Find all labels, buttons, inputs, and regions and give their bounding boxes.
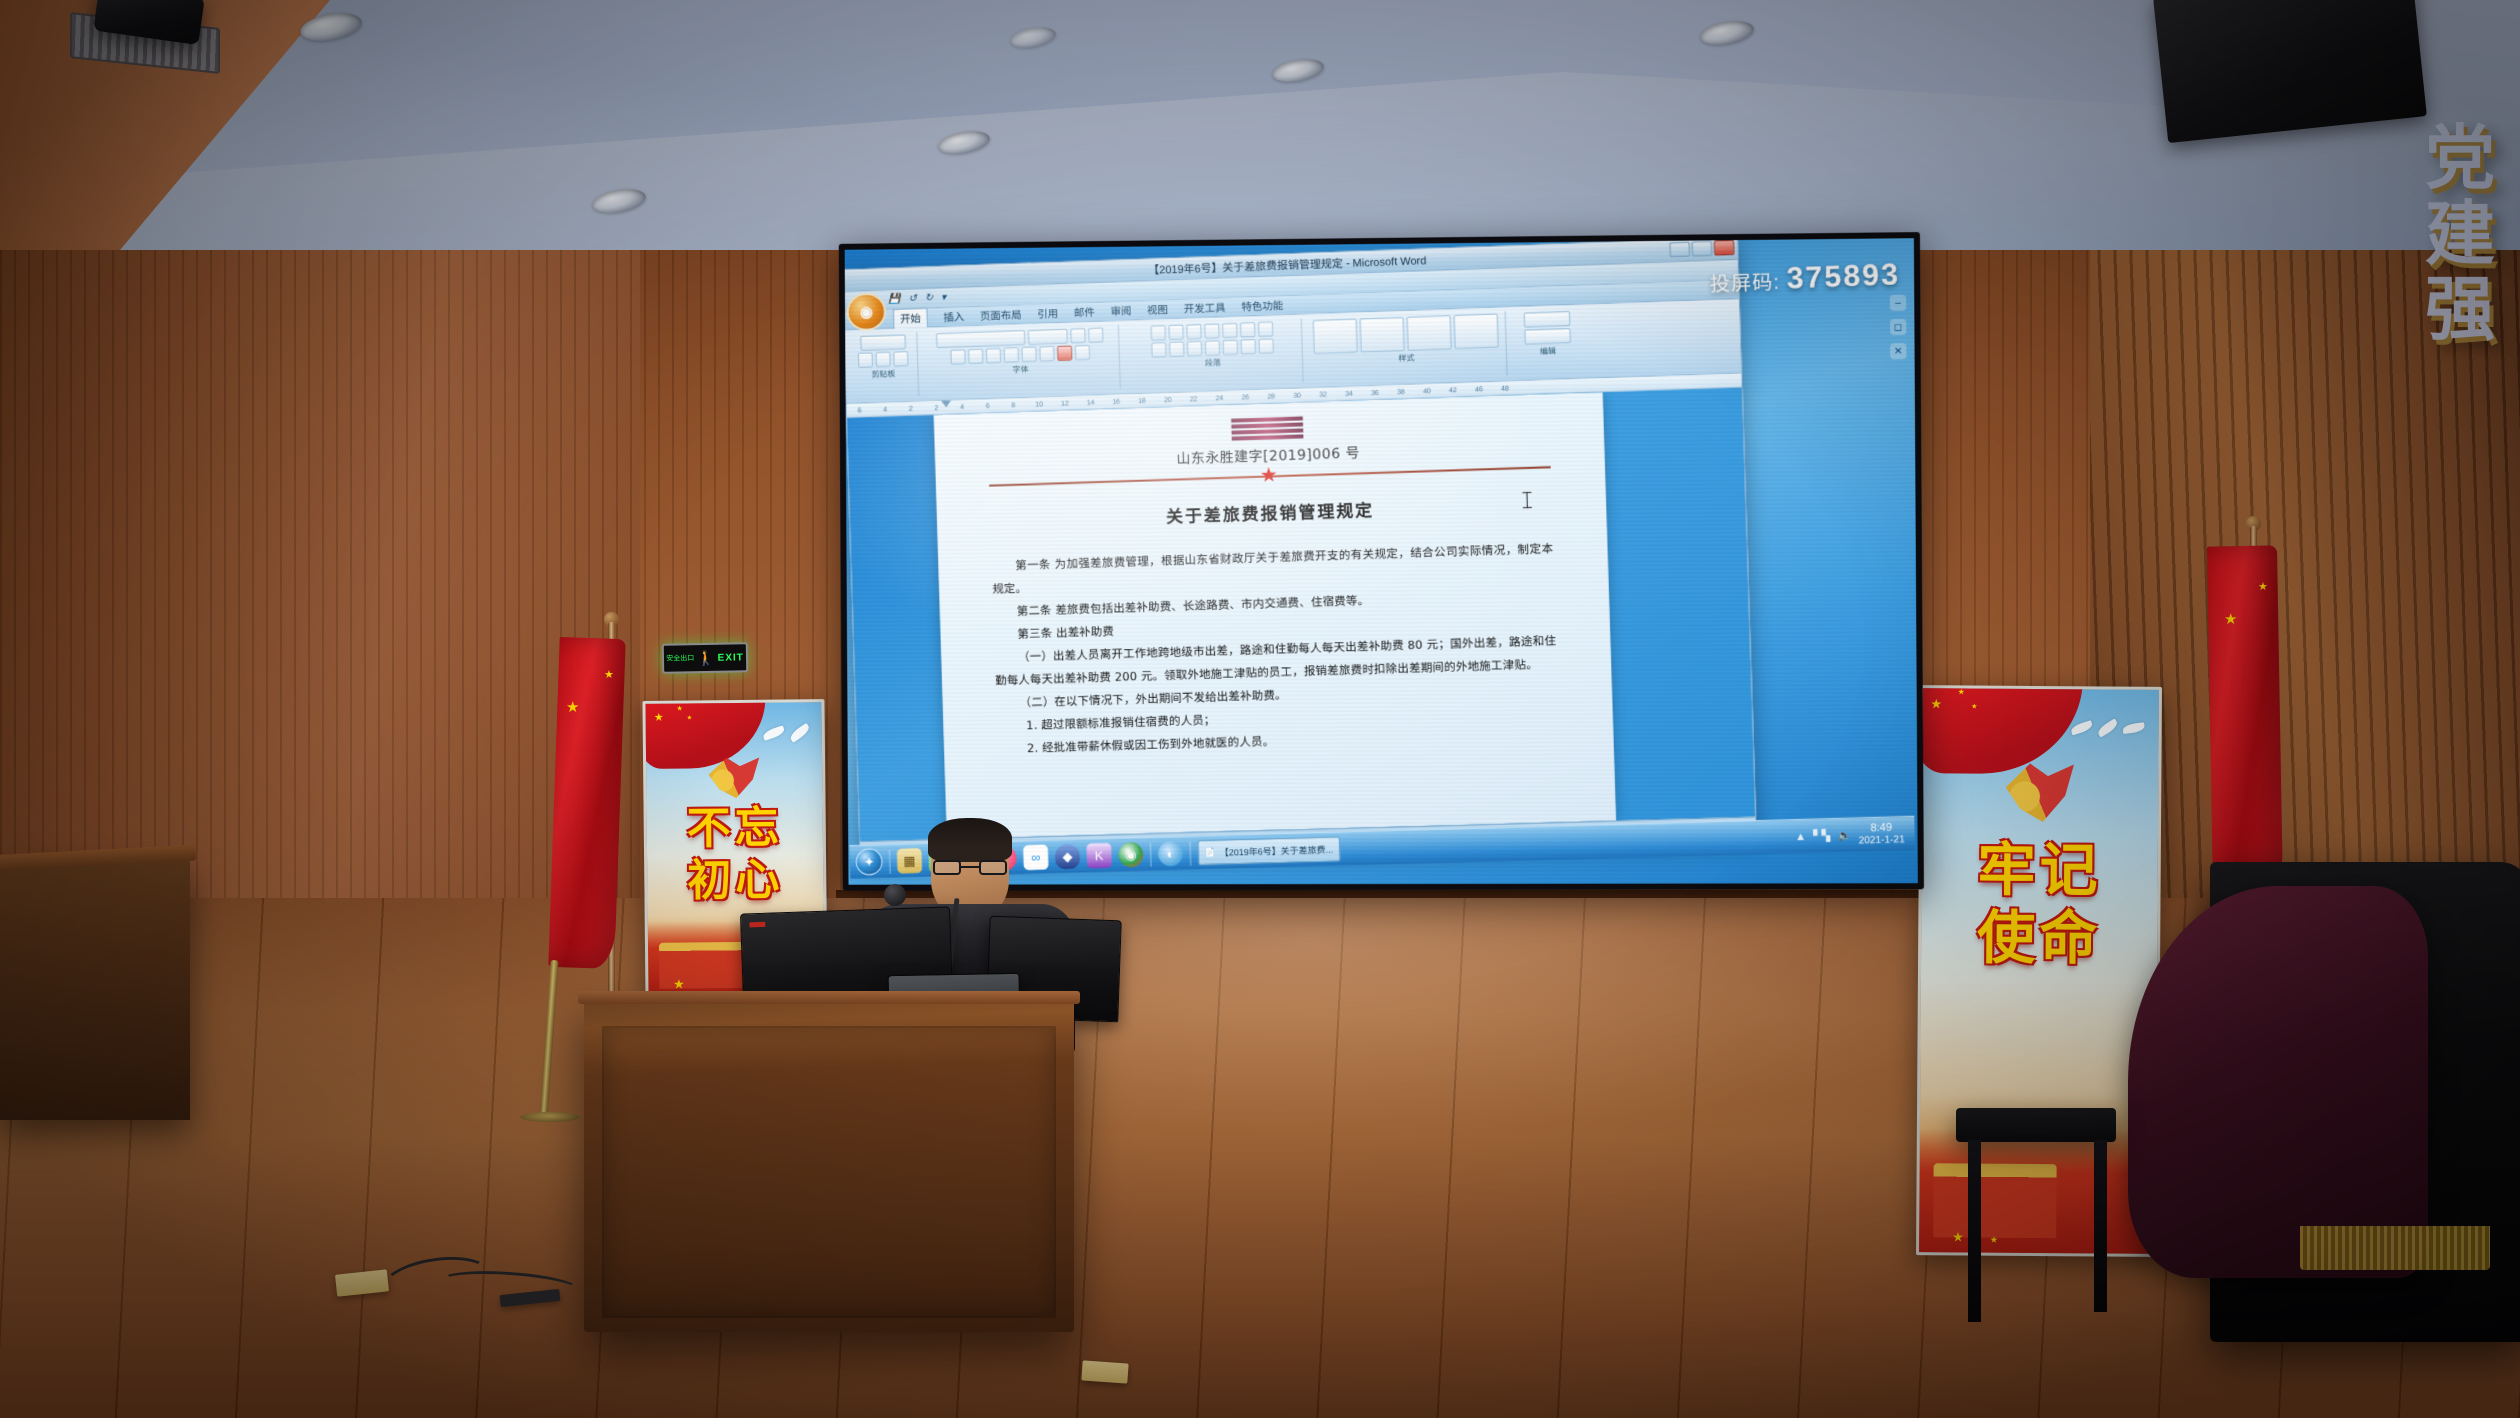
ruler-tick: 24 xyxy=(1206,394,1232,402)
style-heading1[interactable] xyxy=(1407,315,1452,351)
style-no-spacing[interactable] xyxy=(1360,317,1405,353)
banner-left-line2: 初心 xyxy=(647,854,824,908)
dove-icon xyxy=(759,729,811,739)
tab-special[interactable]: 特色功能 xyxy=(1241,298,1283,314)
tiananmen-graphic: ★ ★ xyxy=(1919,1128,2156,1254)
ribbon-group-label: 字体 xyxy=(1013,364,1029,375)
ruler-tick: 22 xyxy=(1181,395,1207,403)
bullets-button[interactable] xyxy=(1151,325,1166,340)
decrease-indent-button[interactable] xyxy=(1204,323,1219,338)
ribbon-group-label: 段落 xyxy=(1205,357,1221,369)
ruler-tick: 10 xyxy=(1026,400,1052,408)
underline-button[interactable] xyxy=(986,348,1001,363)
document-title: 关于差旅费报销管理规定 xyxy=(990,490,1552,533)
font-size-select[interactable] xyxy=(1028,329,1068,345)
line-spacing-button[interactable] xyxy=(1223,340,1238,355)
podium xyxy=(584,1000,1074,1332)
ruler-tick: 20 xyxy=(1155,396,1181,404)
ruler-tick: 2 xyxy=(898,405,924,413)
banner-left-line1: 不忘 xyxy=(647,802,824,856)
tab-review[interactable]: 审阅 xyxy=(1110,303,1131,319)
redo-icon[interactable]: ↻ xyxy=(925,293,934,304)
piano-bench xyxy=(1956,1108,2116,1142)
sort-button[interactable] xyxy=(1240,322,1255,337)
bold-button[interactable] xyxy=(950,349,965,364)
projection-screen[interactable]: 投屏码: 375893 – ◻ ✕ 【2019年6号】关于差旅费报销管理规定 -… xyxy=(845,238,1918,885)
taskbar-window-button[interactable]: 📄 【2019年6号】关于差旅费... xyxy=(1197,837,1340,866)
qq-browser-icon[interactable]: ◐ xyxy=(1158,841,1184,867)
text-caret-icon xyxy=(1526,492,1528,508)
align-right-button[interactable] xyxy=(1187,341,1202,356)
style-heading2[interactable] xyxy=(1454,314,1499,350)
floor-paper-note xyxy=(1081,1360,1128,1383)
grow-font-button[interactable] xyxy=(1070,328,1085,343)
ribbon-group-label: 样式 xyxy=(1398,353,1414,365)
ruler-tick: 46 xyxy=(1466,385,1492,393)
ruler-tick: 4 xyxy=(872,406,898,414)
ruler-tick: 16 xyxy=(1103,398,1129,406)
wall-calli-char: 强 xyxy=(2414,271,2506,347)
red-star-icon: ★ xyxy=(1260,467,1278,484)
ruler-tick: 42 xyxy=(1440,386,1466,394)
cast-code-label: 投屏码: xyxy=(1709,272,1780,297)
strikethrough-button[interactable] xyxy=(1004,347,1019,362)
ruler-tick: 40 xyxy=(1414,387,1440,395)
ruler-tick: 26 xyxy=(1232,393,1258,401)
tab-developer[interactable]: 开发工具 xyxy=(1184,300,1226,316)
superscript-button[interactable] xyxy=(1039,346,1054,361)
document-canvas[interactable]: 山东永胜建字[2019]006 号 ★ 关于差旅费报销管理规定 第一条 为加强差… xyxy=(847,388,1755,842)
close-icon[interactable]: ✕ xyxy=(1890,343,1906,359)
ruler-tick: 32 xyxy=(1310,391,1336,399)
eyeglasses-icon xyxy=(933,860,1007,876)
show-marks-button[interactable] xyxy=(1258,321,1273,336)
align-left-button[interactable] xyxy=(1151,342,1166,357)
document-page[interactable]: 山东永胜建字[2019]006 号 ★ 关于差旅费报销管理规定 第一条 为加强差… xyxy=(934,392,1616,839)
bench-leg xyxy=(2094,1140,2107,1312)
chrome-icon[interactable]: ◉ xyxy=(1118,842,1144,868)
volume-muted-icon[interactable]: 🔈 xyxy=(1837,829,1851,842)
ruler-tick: 38 xyxy=(1388,388,1414,396)
shading-button[interactable] xyxy=(1241,339,1256,354)
cast-code-value: 375893 xyxy=(1786,258,1901,296)
tab-mailings[interactable]: 邮件 xyxy=(1074,304,1095,320)
find-button[interactable] xyxy=(1524,311,1571,328)
system-tray[interactable]: ▲ ▘▚ 🔈 8:49 2021-1-21 xyxy=(1795,821,1909,849)
ruler-tick: 28 xyxy=(1258,393,1284,401)
flag-stand-base xyxy=(520,1112,580,1122)
undo-icon[interactable]: ↺ xyxy=(909,293,918,304)
clock-time: 8:49 xyxy=(1858,821,1905,836)
wall-calligraphy: 党 建 强 xyxy=(2414,120,2506,347)
ruler-tick: 8 xyxy=(1000,401,1026,409)
bench-leg xyxy=(1968,1140,1981,1322)
projection-screen-frame: 投屏码: 375893 – ◻ ✕ 【2019年6号】关于差旅费报销管理规定 -… xyxy=(839,232,1924,891)
ruler-tick: 36 xyxy=(1362,389,1388,397)
exit-sign-en-label: EXIT xyxy=(717,652,743,663)
banner-right-line2: 使命 xyxy=(1921,903,2157,973)
close-icon[interactable] xyxy=(1714,240,1735,256)
restore-icon[interactable]: ◻ xyxy=(1890,319,1906,335)
ruler-tick: 4 xyxy=(949,403,975,411)
shrink-font-button[interactable] xyxy=(1088,327,1103,342)
restore-icon[interactable] xyxy=(1692,241,1713,257)
conference-hall-photo: 党 建 强 安全出口 🚶 EXIT ★ ★ ★ ★ ★ ★ ★ 不忘 xyxy=(0,0,2520,1418)
paste-button[interactable] xyxy=(860,334,906,350)
word-doc-icon: 📄 xyxy=(1205,847,1216,858)
ruler-tick: 48 xyxy=(1492,385,1518,393)
microphone-head xyxy=(884,884,906,906)
ruler-tick: 30 xyxy=(1284,392,1310,400)
ribbon-group-paragraph[interactable]: 段落 xyxy=(1123,318,1304,388)
ribbon-group-clipboard[interactable]: 剪贴板 xyxy=(848,332,919,398)
cast-code-display: 投屏码: 375893 xyxy=(1709,258,1901,299)
dove-icon xyxy=(2067,723,2145,733)
ribbon-group-styles[interactable]: 样式 xyxy=(1306,311,1508,382)
flag-graphic: ★ ★ ★ xyxy=(642,699,765,769)
taskbar-window-label: 【2019年6号】关于差旅费... xyxy=(1220,843,1333,859)
tab-page-layout[interactable]: 页面布局 xyxy=(980,307,1022,323)
numbering-button[interactable] xyxy=(1168,325,1183,340)
multilevel-list-button[interactable] xyxy=(1186,324,1201,339)
side-lectern xyxy=(0,860,190,1120)
ribbon-group-font[interactable]: 字体 xyxy=(921,325,1121,395)
tab-start[interactable]: 开始 xyxy=(893,308,928,329)
increase-indent-button[interactable] xyxy=(1222,323,1237,338)
banner-right: ★ ★ ★ 牢记 使命 ★ ★ xyxy=(1916,685,2162,1257)
minimize-icon[interactable]: – xyxy=(1890,295,1906,311)
customize-icon[interactable]: ▾ xyxy=(941,292,946,303)
borders-button[interactable] xyxy=(1258,338,1273,353)
piano-cover xyxy=(2128,886,2428,1278)
tab-view[interactable]: 视图 xyxy=(1147,302,1168,318)
running-man-icon: 🚶 xyxy=(697,651,715,665)
tab-insert[interactable]: 插入 xyxy=(943,309,964,325)
align-center-button[interactable] xyxy=(1169,342,1184,357)
show-desktop-icon[interactable]: ▲ xyxy=(1795,830,1806,842)
italic-button[interactable] xyxy=(968,349,983,364)
banner-right-line1: 牢记 xyxy=(1921,835,2157,905)
wall-calli-char: 建 xyxy=(2414,196,2506,272)
cut-button[interactable] xyxy=(858,352,873,367)
word-window[interactable]: 【2019年6号】关于差旅费报销管理规定 - Microsoft Word 💾 … xyxy=(845,238,1757,864)
ruler-tick: 34 xyxy=(1336,390,1362,398)
tab-references[interactable]: 引用 xyxy=(1037,306,1058,322)
copy-button[interactable] xyxy=(875,352,890,367)
ruler-tick: 14 xyxy=(1078,399,1104,407)
ribbon-group-editing[interactable]: 编辑 xyxy=(1512,309,1584,376)
ruler-tick: 6 xyxy=(975,402,1001,410)
cast-side-buttons[interactable]: – ◻ ✕ xyxy=(1888,295,1909,360)
presenter-hair xyxy=(928,818,1012,862)
font-color-button[interactable] xyxy=(1057,345,1072,360)
save-icon[interactable]: 💾 xyxy=(888,294,901,305)
ruler-tick: 12 xyxy=(1052,400,1078,408)
ribbon-group-label: 编辑 xyxy=(1540,346,1556,358)
justify-button[interactable] xyxy=(1205,340,1220,355)
ruler-tick: 6 xyxy=(847,407,873,415)
wps-icon[interactable]: K xyxy=(1086,843,1112,869)
format-painter-button[interactable] xyxy=(893,351,908,366)
network-icon[interactable]: ▘▚ xyxy=(1813,829,1831,843)
ribbon-group-label: 剪贴板 xyxy=(872,369,896,381)
wall-calli-char: 党 xyxy=(2414,120,2506,196)
style-normal[interactable] xyxy=(1313,319,1358,354)
replace-button[interactable] xyxy=(1524,328,1571,345)
ruler-tick: 18 xyxy=(1129,397,1155,405)
highlight-button[interactable] xyxy=(1075,345,1090,360)
window-caption-buttons[interactable] xyxy=(1669,240,1734,257)
indent-marker-icon[interactable] xyxy=(941,400,951,407)
clock-date: 2021-1-21 xyxy=(1858,834,1905,846)
flag-graphic: ★ ★ ★ xyxy=(1916,685,2084,774)
subscript-button[interactable] xyxy=(1021,347,1036,362)
font-family-select[interactable] xyxy=(936,330,1025,348)
piano-cover-fringe xyxy=(2300,1226,2490,1270)
minimize-icon[interactable] xyxy=(1669,242,1690,258)
taskbar-clock[interactable]: 8:49 2021-1-21 xyxy=(1858,821,1905,848)
